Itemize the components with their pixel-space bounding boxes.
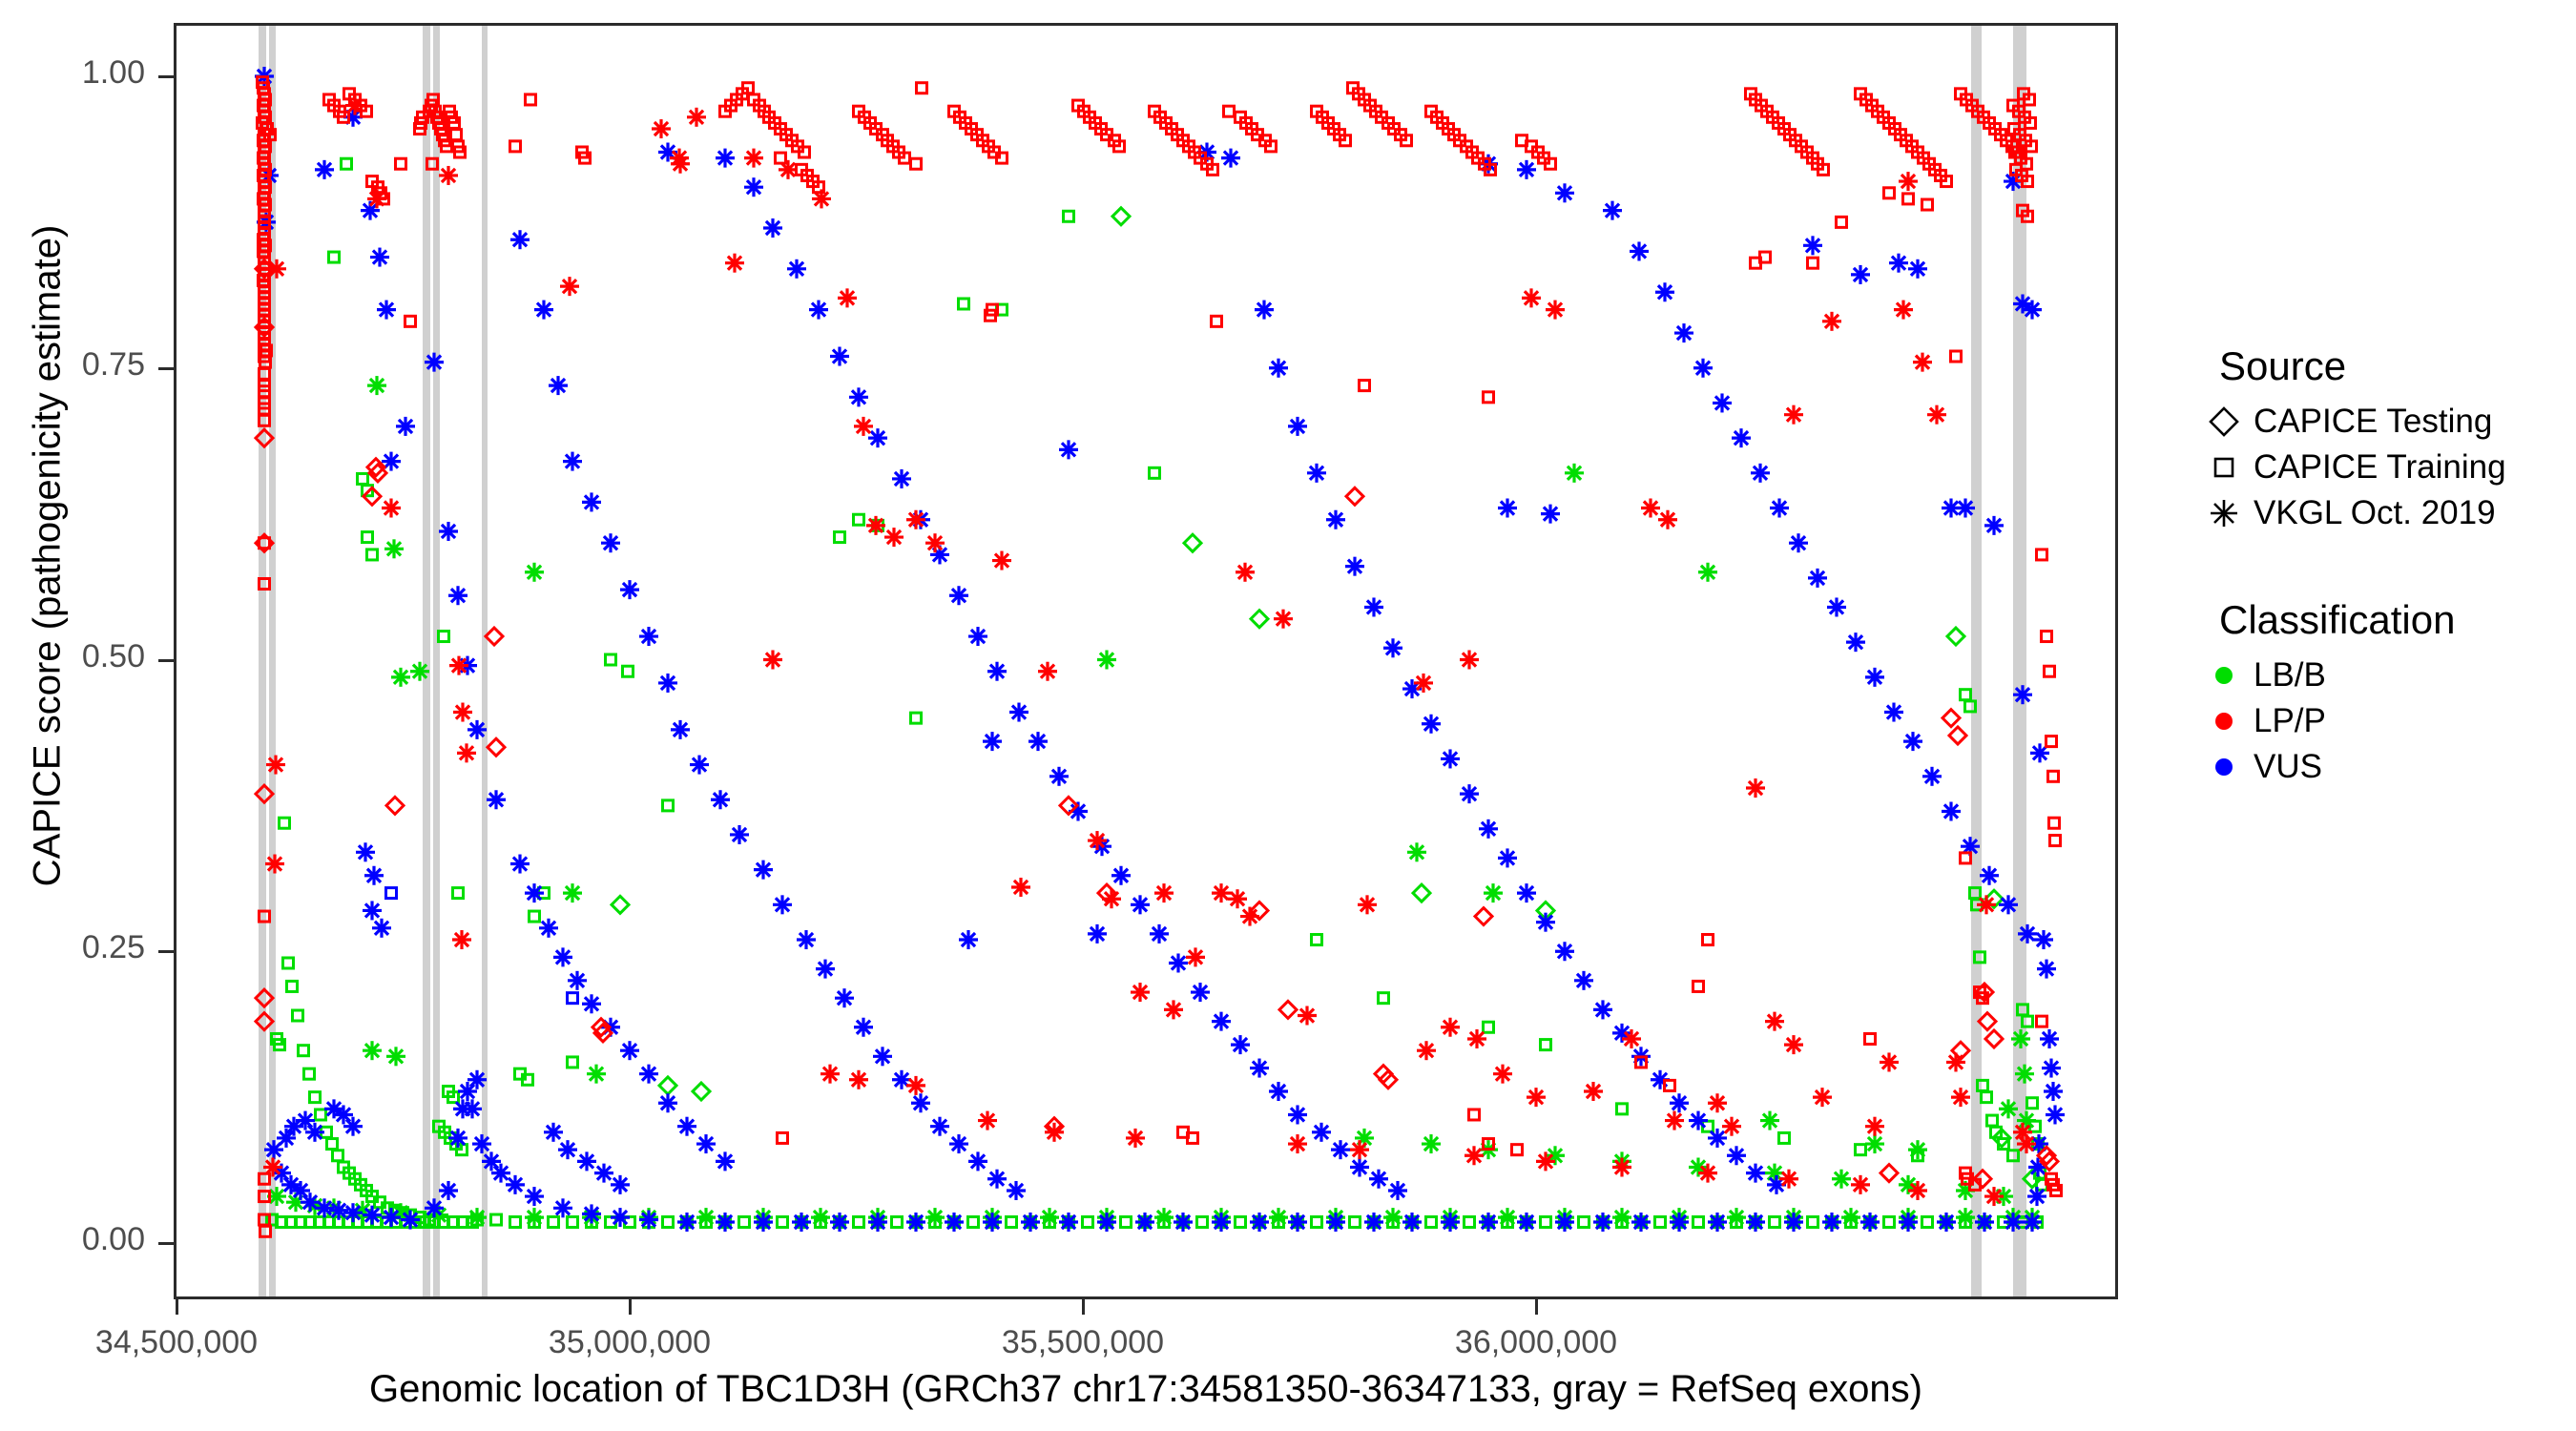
x-tick-mark (176, 1299, 178, 1315)
data-point-asterisk (1212, 1012, 1231, 1031)
data-point-square (439, 632, 449, 642)
data-point-asterisk (1536, 1151, 1555, 1171)
data-point-asterisk (687, 108, 706, 127)
data-point-diamond (1279, 1001, 1297, 1018)
data-point-asterisk (1760, 1111, 1779, 1130)
data-point-asterisk (1111, 866, 1131, 885)
data-point-asterisk (1414, 674, 1433, 693)
data-point-asterisk (1977, 895, 1996, 914)
data-point-asterisk (439, 522, 458, 541)
data-point-asterisk (1307, 464, 1326, 483)
data-point-diamond (1251, 611, 1268, 628)
data-point-asterisk (1009, 703, 1028, 722)
data-point-square (510, 1216, 521, 1227)
data-point-asterisk (873, 1047, 892, 1066)
y-tick-label: 0.25 (0, 929, 145, 966)
data-point-asterisk (1186, 947, 1205, 966)
data-point-asterisk (1417, 1041, 1436, 1060)
data-point-asterisk (1479, 1213, 1498, 1232)
data-point-square (526, 94, 536, 105)
data-point-square (568, 1216, 578, 1227)
data-point-asterisk (1865, 1117, 1884, 1136)
data-point-square (1770, 1216, 1780, 1227)
data-point-asterisk (425, 353, 444, 372)
data-point-asterisk (1154, 1208, 1174, 1227)
green-dot-icon (2194, 659, 2254, 692)
data-point-asterisk (472, 1134, 491, 1153)
x-tick-mark (1082, 1299, 1085, 1315)
data-point-asterisk (763, 218, 782, 238)
x-tick-label: 36,000,000 (1455, 1324, 1617, 1361)
data-point-asterisk (1045, 1123, 1064, 1142)
data-point-asterisk (1584, 1082, 1603, 1101)
data-point-asterisk (1465, 1146, 1484, 1165)
data-point-asterisk (1191, 983, 1210, 1002)
legend-title-classification: Classification (2219, 597, 2557, 643)
series-square (267, 158, 2047, 1227)
data-point-asterisk (594, 1164, 613, 1183)
data-point-asterisk (601, 533, 620, 552)
data-point-asterisk (363, 1206, 382, 1225)
data-point-asterisk (611, 1208, 630, 1227)
data-point-square (623, 666, 634, 676)
legend-label-capice-training: CAPICE Training (2254, 448, 2506, 487)
data-point-diamond (1112, 208, 1130, 225)
data-point-asterisk (945, 1213, 964, 1232)
data-point-asterisk (911, 1093, 930, 1112)
data-point-square (2050, 836, 2061, 846)
data-point-asterisk (716, 1151, 735, 1171)
data-point-asterisk (525, 563, 544, 582)
data-point-asterisk (1383, 1208, 1402, 1227)
x-tick-mark (629, 1299, 632, 1315)
data-point-asterisk (1274, 610, 1293, 629)
data-point-asterisk (1922, 767, 1942, 786)
data-point-asterisk (925, 1208, 945, 1227)
data-point-asterisk (1269, 1208, 1288, 1227)
data-point-square (549, 1216, 559, 1227)
data-point-square (1312, 1216, 1322, 1227)
plot-panel (174, 23, 2118, 1299)
data-point-asterisk (1808, 569, 1827, 588)
data-point-asterisk (2027, 1187, 2046, 1206)
data-point-asterisk (1946, 1052, 1965, 1071)
data-point-asterisk (544, 1123, 563, 1142)
legend-title-source: Source (2219, 343, 2557, 389)
data-point-asterisk (849, 1070, 868, 1089)
data-point-square (363, 532, 373, 543)
data-point-asterisk (1865, 1134, 1884, 1153)
data-point-asterisk (744, 177, 763, 197)
data-point-asterisk (1150, 924, 1169, 944)
data-point-asterisk (267, 259, 286, 279)
y-tick-label: 1.00 (0, 54, 145, 92)
data-point-asterisk (658, 1093, 677, 1112)
data-point-asterisk (1908, 1140, 1927, 1159)
data-point-asterisk (370, 248, 389, 267)
data-point-asterisk (1631, 1213, 1651, 1232)
legend-item-vkgl[interactable]: VKGL Oct. 2019 (2194, 490, 2557, 536)
data-point-asterisk (725, 254, 744, 273)
data-point-asterisk (1698, 1164, 1717, 1183)
legend-item-lbb[interactable]: LB/B (2194, 653, 2557, 698)
data-point-asterisk (868, 428, 887, 447)
data-point-asterisk (1689, 1111, 1708, 1130)
data-point-asterisk (1467, 1029, 1486, 1048)
data-point-asterisk (1593, 1213, 1612, 1232)
data-point-asterisk (364, 866, 384, 885)
data-point-diamond (1880, 1165, 1898, 1182)
data-point-asterisk (467, 720, 487, 739)
data-point-asterisk (1228, 889, 1247, 908)
data-point-asterisk (830, 347, 849, 366)
data-point-asterisk (2023, 301, 2042, 320)
data-point-asterisk (343, 1117, 363, 1136)
data-point-asterisk (1298, 1006, 1317, 1026)
data-point-asterisk (1269, 1082, 1288, 1101)
data-point-asterisk (1288, 1134, 1307, 1153)
data-point-asterisk (577, 1151, 596, 1171)
data-point-asterisk (983, 732, 1002, 751)
data-point-asterisk (386, 1047, 405, 1066)
data-point-square (1982, 1092, 1992, 1103)
data-point-asterisk (906, 1076, 925, 1095)
data-point-asterisk (1422, 1134, 1441, 1153)
data-point-asterisk (1746, 778, 1765, 798)
data-point-asterisk (1975, 1213, 1994, 1232)
data-point-asterisk (1164, 1000, 1183, 1019)
legend-item-lpp[interactable]: LP/P (2194, 698, 2557, 744)
data-point-square (1856, 1145, 1866, 1155)
data-point-square (968, 1216, 979, 1227)
data-point-asterisk (263, 1158, 282, 1177)
data-point-asterisk (854, 1018, 873, 1037)
data-point-square (776, 153, 786, 163)
data-point-square (299, 1046, 309, 1056)
data-point-square (358, 473, 368, 484)
y-axis-label: CAPICE score (pathogenicity estimate) (27, 194, 70, 919)
series-diamond (256, 260, 2058, 1188)
data-point-diamond (1942, 710, 1960, 727)
data-point-asterisk (1603, 201, 1622, 220)
x-tick-label: 35,000,000 (549, 1324, 711, 1361)
data-point-asterisk (830, 1213, 849, 1232)
data-point-asterisk (639, 1211, 658, 1230)
data-point-square (1951, 351, 1962, 362)
data-point-asterisk (343, 1203, 363, 1222)
data-point-diamond (1949, 727, 1966, 744)
data-point-asterisk (568, 971, 587, 990)
data-point-asterisk (1441, 749, 1460, 768)
data-point-asterisk (1784, 1035, 1803, 1054)
data-point-asterisk (453, 703, 472, 722)
data-point-square (405, 316, 416, 326)
data-point-asterisk (315, 160, 334, 179)
x-tick-label: 34,500,000 (95, 1324, 258, 1361)
data-point-asterisk (582, 994, 601, 1013)
data-point-diamond (1947, 628, 1964, 645)
data-point-asterisk (1956, 1208, 1975, 1227)
data-point-asterisk (812, 189, 831, 208)
data-point-asterisk (587, 1065, 606, 1084)
y-tick-label: 0.50 (0, 638, 145, 675)
y-tick-mark (158, 659, 174, 662)
data-point-asterisk (730, 825, 749, 844)
data-point-square (568, 993, 578, 1004)
data-point-asterisk (452, 930, 471, 949)
data-point-asterisk (1331, 1140, 1350, 1159)
data-point-asterisk (1951, 1088, 1970, 1107)
data-point-asterisk (1956, 499, 1975, 518)
data-point-asterisk (1789, 533, 1808, 552)
data-point-asterisk (265, 855, 284, 874)
data-point-asterisk (1102, 889, 1121, 908)
data-point-square (2046, 736, 2057, 747)
data-point-square (663, 1216, 674, 1227)
data-point-asterisk (1889, 254, 1908, 273)
data-point-square (304, 1068, 315, 1079)
data-point-square (1922, 1216, 1933, 1227)
data-point-asterisk (959, 930, 978, 949)
data-point-square (1922, 199, 1933, 210)
data-point-square (1064, 211, 1074, 221)
data-point-square (917, 83, 927, 93)
data-point-asterisk (754, 861, 773, 880)
data-point-square (530, 911, 540, 922)
data-point-asterisk (367, 189, 386, 208)
data-point-square (1884, 188, 1895, 198)
data-point-asterisk (1097, 1213, 1116, 1232)
data-point-square (1150, 467, 1160, 478)
data-point-square (1312, 935, 1322, 945)
data-point-asterisk (1097, 651, 1116, 670)
data-point-asterisk (1135, 1213, 1154, 1232)
data-point-asterisk (1383, 638, 1402, 657)
data-point-asterisk (968, 627, 987, 646)
data-point-asterisk (549, 376, 568, 395)
data-point-asterisk (1522, 288, 1541, 307)
legend-item-capice-training[interactable]: CAPICE Training (2194, 445, 2557, 490)
data-point-asterisk (1822, 312, 1841, 331)
data-point-diamond (386, 797, 404, 814)
legend: Source CAPICE Testing CAPICE Training VK… (2194, 343, 2557, 790)
y-tick-mark (158, 1242, 174, 1245)
data-point-asterisk (1169, 953, 1188, 972)
data-point-asterisk (854, 417, 873, 436)
data-point-asterisk (558, 1140, 577, 1159)
data-point-asterisk (2015, 1065, 2034, 1084)
refseq-exon-band (423, 26, 430, 1296)
data-point-asterisk (978, 1111, 997, 1130)
data-point-asterisk (1899, 172, 1918, 191)
data-point-asterisk (1674, 323, 1693, 342)
data-point-asterisk (2013, 685, 2032, 704)
data-point-asterisk (563, 883, 582, 902)
data-point-asterisk (1908, 259, 1927, 279)
legend-item-capice-testing[interactable]: CAPICE Testing (2194, 399, 2557, 445)
data-point-asterisk (987, 1170, 1007, 1189)
data-point-asterisk (1784, 1213, 1803, 1232)
legend-label-lbb: LB/B (2254, 656, 2326, 695)
y-tick-label: 0.75 (0, 346, 145, 384)
data-point-asterisk (439, 1181, 458, 1200)
data-point-asterisk (1555, 183, 1574, 202)
data-point-asterisk (1899, 1213, 1918, 1232)
data-point-asterisk (582, 492, 601, 511)
data-point-asterisk (671, 720, 690, 739)
data-point-asterisk (1612, 1158, 1631, 1177)
data-point-square (2027, 1098, 2038, 1109)
data-point-asterisk (2011, 1029, 2030, 1048)
data-point-asterisk (1913, 353, 1932, 372)
data-point-asterisk (1846, 633, 1865, 652)
data-point-asterisk (1460, 784, 1479, 803)
data-point-asterisk (1364, 1213, 1383, 1232)
data-point-asterisk (906, 1213, 925, 1232)
data-point-asterisk (1708, 1213, 1727, 1232)
data-point-asterisk (1288, 1105, 1307, 1124)
data-point-asterisk (696, 1208, 716, 1227)
data-point-diamond (612, 896, 629, 913)
data-point-asterisk (448, 1129, 467, 1148)
y-tick-mark (158, 75, 174, 78)
data-point-asterisk (491, 1164, 510, 1183)
data-point-asterisk (1746, 1164, 1765, 1183)
data-point-asterisk (1765, 1012, 1784, 1031)
data-point-square (316, 1110, 326, 1120)
data-point-asterisk (925, 533, 945, 552)
series-square (258, 77, 2062, 1237)
data-point-square (333, 1151, 343, 1161)
data-point-asterisk (1312, 1123, 1331, 1142)
data-point-asterisk (1593, 1000, 1612, 1019)
data-point-asterisk (363, 901, 382, 920)
data-point-asterisk (1713, 393, 1732, 412)
data-point-square (386, 888, 397, 899)
legend-item-vus[interactable]: VUS (2194, 744, 2557, 790)
data-point-asterisk (345, 96, 364, 115)
data-point-diamond (693, 1083, 710, 1100)
data-point-asterisk (884, 528, 904, 547)
series-diamond (612, 208, 2041, 1188)
data-point-asterisk (266, 756, 285, 775)
data-point-square (1484, 392, 1494, 403)
data-point-asterisk (838, 288, 857, 307)
data-point-square (1541, 1040, 1551, 1050)
data-point-asterisk (1630, 241, 1649, 260)
legend-spacer (2194, 536, 2557, 597)
refseq-exon-band (1971, 26, 1982, 1296)
data-point-asterisk (1028, 732, 1048, 751)
data-point-asterisk (315, 1198, 334, 1217)
data-point-asterisk (816, 960, 835, 979)
data-point-asterisk (1784, 405, 1803, 425)
data-point-asterisk (1670, 1093, 1689, 1112)
data-point-square (453, 888, 464, 899)
data-point-asterisk (992, 551, 1011, 570)
data-point-square (2045, 666, 2055, 676)
data-point-square (1465, 1216, 1475, 1227)
data-point-asterisk (1517, 883, 1536, 902)
data-point-square (1617, 1104, 1628, 1114)
data-point-asterisk (1851, 265, 1870, 284)
data-point-asterisk (1727, 1146, 1746, 1165)
data-point-asterisk (1865, 668, 1884, 687)
data-point-asterisk (457, 743, 476, 762)
data-point-asterisk (1326, 1213, 1345, 1232)
data-point-asterisk (1460, 651, 1479, 670)
asterisk-icon (2194, 497, 2254, 529)
data-point-asterisk (277, 1129, 296, 1148)
y-tick-label: 0.00 (0, 1221, 145, 1258)
data-point-asterisk (1827, 597, 1846, 616)
data-point-asterisk (1049, 767, 1069, 786)
data-point-square (1541, 1216, 1551, 1227)
data-point-square (283, 958, 294, 968)
data-point-asterisk (1345, 557, 1364, 576)
refseq-exon-band (433, 26, 440, 1296)
data-point-asterisk (1999, 895, 2018, 914)
data-point-asterisk (1011, 878, 1030, 897)
data-point-asterisk (1658, 510, 1677, 529)
data-point-asterisk (372, 919, 391, 938)
data-point-square (1693, 1216, 1704, 1227)
data-point-asterisk (1779, 1170, 1798, 1189)
data-point-asterisk (809, 301, 828, 320)
data-point-asterisk (835, 988, 854, 1007)
data-point-square (1779, 1132, 1790, 1143)
data-point-asterisk (563, 452, 582, 471)
data-point-square (568, 1057, 578, 1068)
data-point-asterisk (1813, 1088, 1832, 1107)
data-point-asterisk (1441, 1018, 1460, 1037)
data-point-square (451, 130, 462, 140)
data-point-square (280, 818, 290, 828)
data-point-asterisk (2017, 1134, 2036, 1153)
data-point-asterisk (448, 586, 467, 605)
data-point-square (1236, 1216, 1246, 1227)
data-point-asterisk (1479, 819, 1498, 839)
data-point-square (1197, 1216, 1208, 1227)
data-point-asterisk (2040, 1029, 2059, 1048)
data-point-asterisk (1937, 1213, 1956, 1232)
data-point-asterisk (1350, 1158, 1369, 1177)
data-point-asterisk (1841, 1208, 1860, 1227)
data-point-asterisk (773, 895, 792, 914)
data-point-diamond (486, 628, 503, 645)
data-point-asterisk (1541, 505, 1560, 524)
data-point-square (1007, 1216, 1017, 1227)
data-point-asterisk (677, 1213, 696, 1232)
data-point-square (367, 550, 378, 560)
data-point-square (1884, 1216, 1895, 1227)
data-point-asterisk (2044, 1082, 2063, 1101)
data-point-square (293, 1010, 303, 1021)
data-point-asterisk (401, 1211, 420, 1230)
scatter-canvas (177, 26, 2115, 1296)
data-point-square (2037, 1016, 2047, 1027)
data-point-asterisk (305, 1123, 324, 1142)
data-point-asterisk (525, 883, 544, 902)
data-point-asterisk (506, 1175, 525, 1194)
data-point-asterisk (1369, 1170, 1388, 1189)
data-point-asterisk (463, 1099, 482, 1118)
data-point-asterisk (658, 674, 677, 693)
data-point-asterisk (930, 1117, 949, 1136)
data-point-asterisk (396, 417, 415, 436)
data-point-asterisk (539, 919, 558, 938)
data-point-square (1837, 217, 1847, 227)
